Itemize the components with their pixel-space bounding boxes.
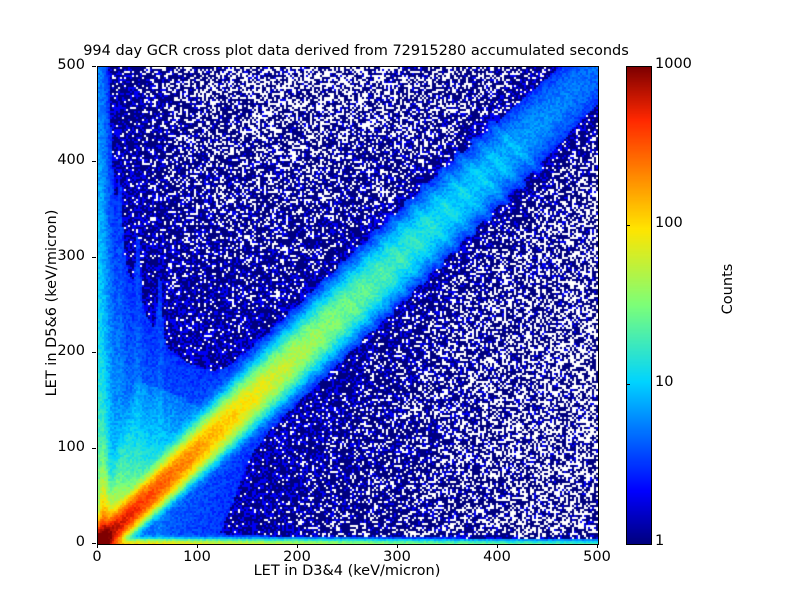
scatter-plot-axes <box>97 66 599 545</box>
x-tick-mark <box>97 544 98 548</box>
x-axis-label: LET in D3&4 (keV/micron) <box>97 563 597 579</box>
x-tick-mark <box>497 544 498 548</box>
colorbar-gradient <box>627 67 651 544</box>
figure-canvas: 994 day GCR cross plot data derived from… <box>0 0 800 600</box>
figure-title-line-1: 994 day GCR cross plot data derived from… <box>0 42 712 60</box>
y-tick-mark <box>92 161 96 162</box>
colorbar-tick-label: 10 <box>655 374 673 390</box>
y-tick-mark <box>92 543 96 544</box>
colorbar-tick-label: 1000 <box>655 56 692 72</box>
x-tick-mark <box>197 544 198 548</box>
y-tick-mark <box>92 448 96 449</box>
y-tick-mark <box>92 66 96 67</box>
colorbar <box>626 66 652 545</box>
colorbar-title: Counts <box>720 209 736 369</box>
colorbar-tick-mark <box>626 225 630 226</box>
colorbar-tick-mark <box>626 384 630 385</box>
y-axis-label: LET in D5&6 (keV/micron) <box>44 163 60 443</box>
colorbar-tick-label: 1 <box>655 533 664 549</box>
x-tick-mark <box>397 544 398 548</box>
y-tick-label: 0 <box>29 534 85 550</box>
x-tick-mark <box>597 544 598 548</box>
x-tick-mark <box>297 544 298 548</box>
y-tick-mark <box>92 352 96 353</box>
colorbar-tick-label: 100 <box>655 215 683 231</box>
y-tick-label: 500 <box>29 57 85 73</box>
y-tick-mark <box>92 257 96 258</box>
let-density-scatter <box>98 67 598 544</box>
